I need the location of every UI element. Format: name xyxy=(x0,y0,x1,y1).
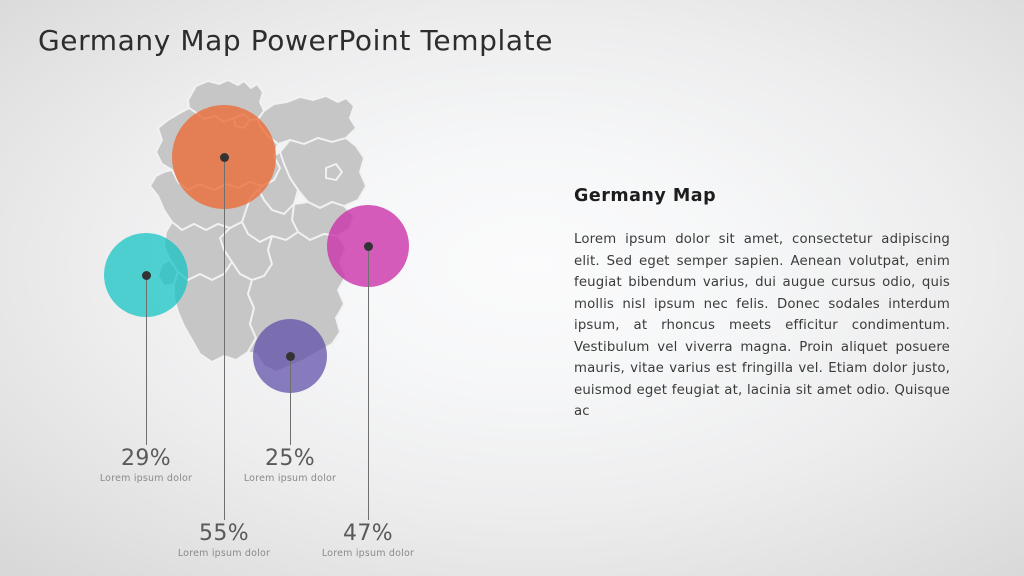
leader-line-purple xyxy=(290,356,291,445)
stat-percent: 47% xyxy=(322,522,414,545)
stat-block-29[interactable]: 29% Lorem ipsum dolor xyxy=(100,447,192,484)
leader-line-magenta xyxy=(368,246,369,520)
pin-dot-orange[interactable] xyxy=(220,153,229,162)
stat-block-25[interactable]: 25% Lorem ipsum dolor xyxy=(244,447,336,484)
content-panel: Germany Map Lorem ipsum dolor sit amet, … xyxy=(574,186,950,423)
stat-block-47[interactable]: 47% Lorem ipsum dolor xyxy=(322,522,414,559)
leader-line-orange xyxy=(224,157,225,520)
stat-caption: Lorem ipsum dolor xyxy=(100,473,192,484)
page-title: Germany Map PowerPoint Template xyxy=(38,24,553,57)
stat-caption: Lorem ipsum dolor xyxy=(322,548,414,559)
panel-heading: Germany Map xyxy=(574,186,950,206)
state-mecklenburg-vorpommern xyxy=(258,96,356,144)
panel-body-text: Lorem ipsum dolor sit amet, consectetur … xyxy=(574,229,950,423)
pin-dot-teal[interactable] xyxy=(142,271,151,280)
stat-percent: 55% xyxy=(178,522,270,545)
pin-dot-magenta[interactable] xyxy=(364,242,373,251)
slide-canvas: Germany Map PowerPoint Template xyxy=(0,0,1024,576)
stat-percent: 29% xyxy=(100,447,192,470)
stat-percent: 25% xyxy=(244,447,336,470)
stat-caption: Lorem ipsum dolor xyxy=(178,548,270,559)
stat-block-55[interactable]: 55% Lorem ipsum dolor xyxy=(178,522,270,559)
stat-caption: Lorem ipsum dolor xyxy=(244,473,336,484)
leader-line-teal xyxy=(146,275,147,445)
pin-dot-purple[interactable] xyxy=(286,352,295,361)
